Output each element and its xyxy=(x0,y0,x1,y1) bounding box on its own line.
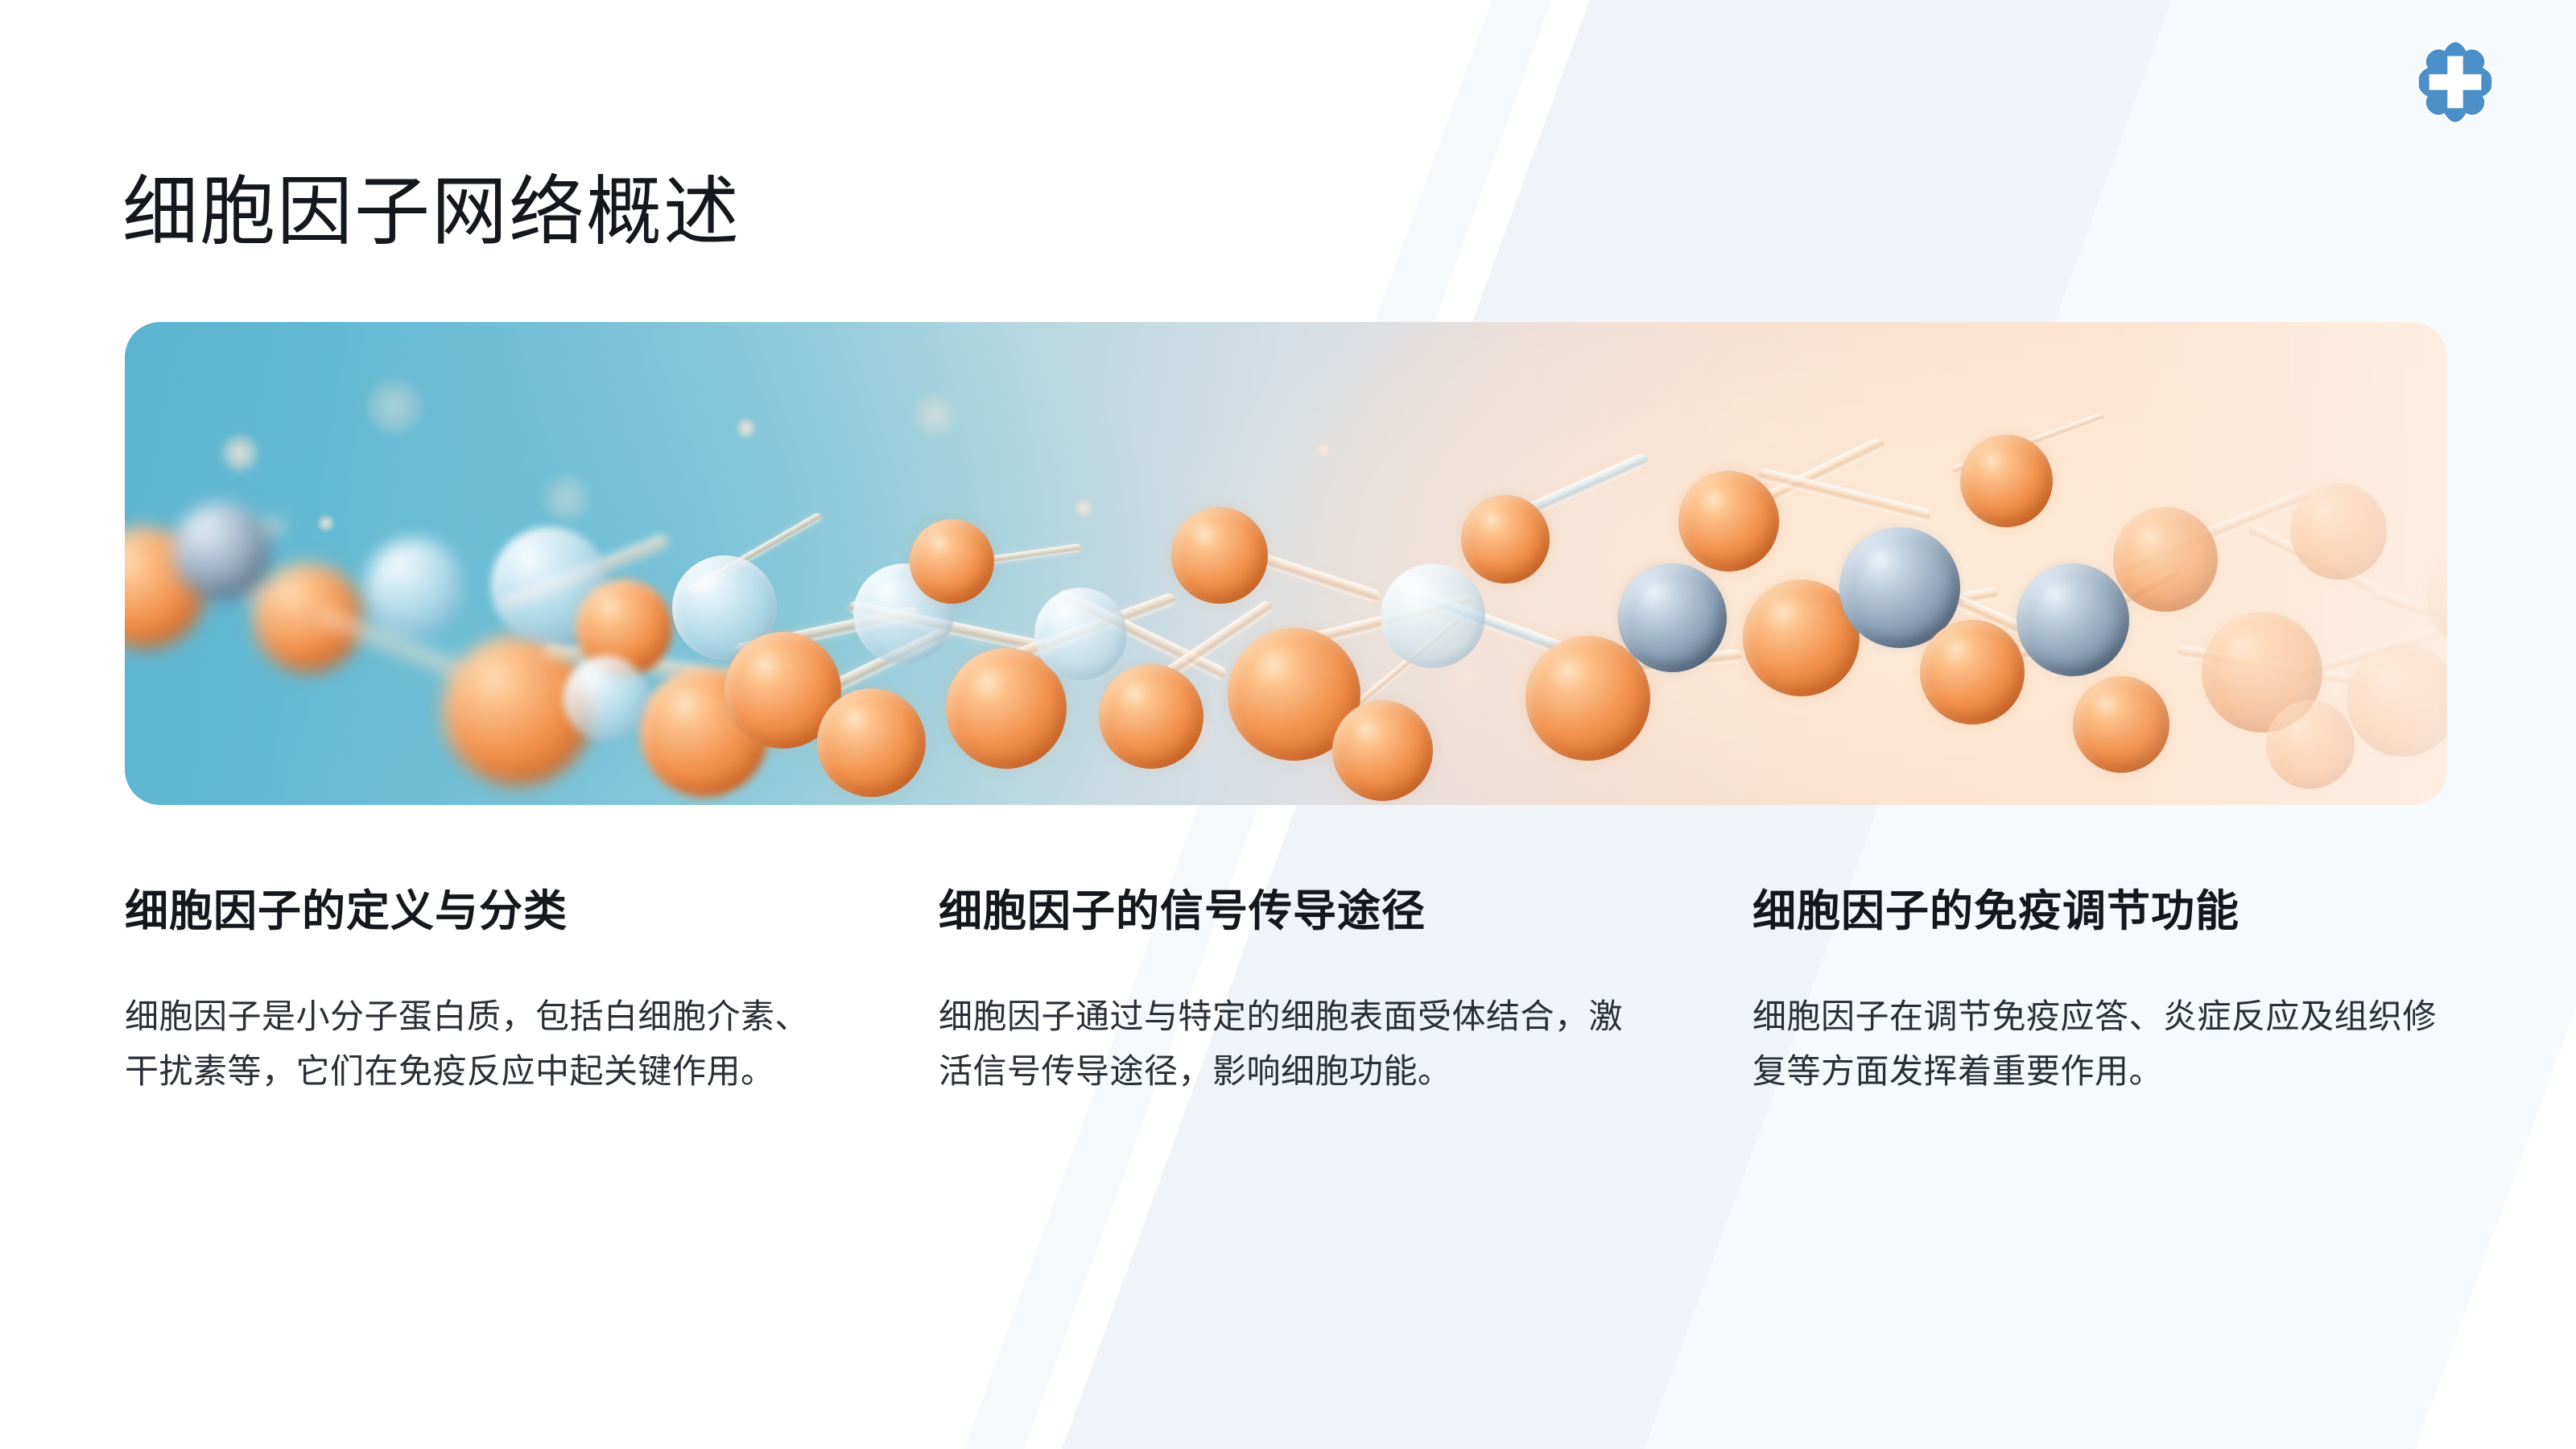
hero-molecule-image xyxy=(125,322,2447,805)
column-body: 细胞因子通过与特定的细胞表面受体结合，激活信号传导途径，影响细胞功能。 xyxy=(939,989,1636,1099)
column-definition: 细胞因子的定义与分类 细胞因子是小分子蛋白质，包括白细胞介素、干扰素等，它们在免… xyxy=(125,885,822,1099)
content-columns: 细胞因子的定义与分类 细胞因子是小分子蛋白质，包括白细胞介素、干扰素等，它们在免… xyxy=(125,885,2451,1099)
column-heading: 细胞因子的定义与分类 xyxy=(125,885,822,938)
page-title: 细胞因子网络概述 xyxy=(122,170,741,253)
column-heading: 细胞因子的免疫调节功能 xyxy=(1752,885,2450,938)
column-body: 细胞因子是小分子蛋白质，包括白细胞介素、干扰素等，它们在免疫反应中起关键作用。 xyxy=(125,989,822,1099)
column-heading: 细胞因子的信号传导途径 xyxy=(939,885,1636,938)
slide-root: 细胞因子网络概述 xyxy=(0,0,2576,1449)
column-body: 细胞因子在调节免疫应答、炎症反应及组织修复等方面发挥着重要作用。 xyxy=(1752,989,2450,1099)
medical-cross-logo-icon xyxy=(2412,39,2499,126)
column-signaling: 细胞因子的信号传导途径 细胞因子通过与特定的细胞表面受体结合，激活信号传导途径，… xyxy=(939,885,1636,1099)
column-immune-regulation: 细胞因子的免疫调节功能 细胞因子在调节免疫应答、炎症反应及组织修复等方面发挥着重… xyxy=(1752,885,2450,1099)
